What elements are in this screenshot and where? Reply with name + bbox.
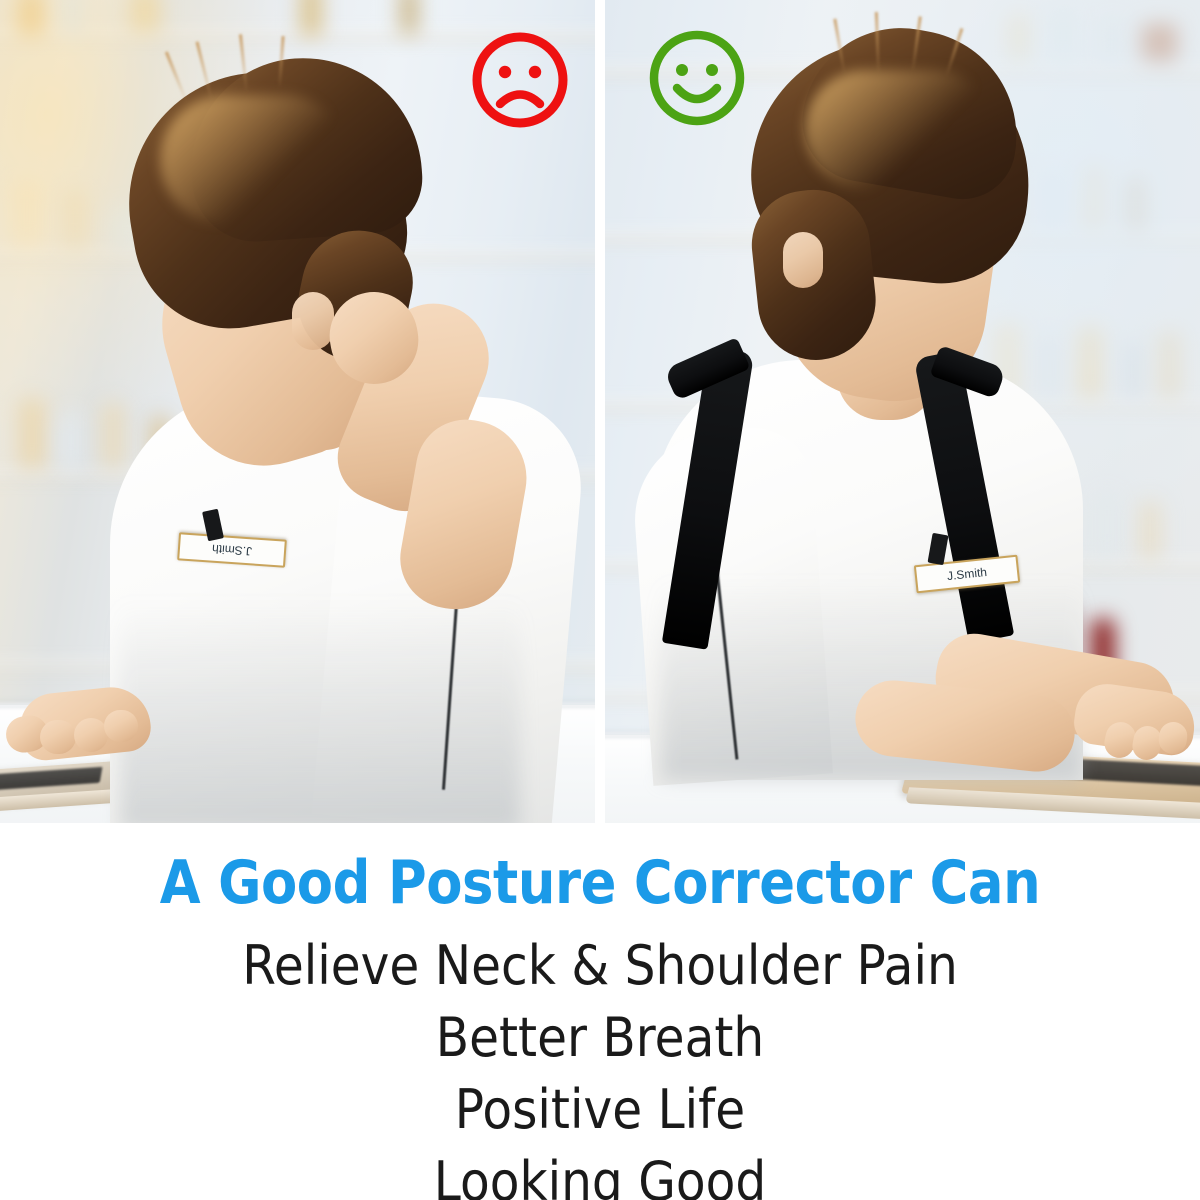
posture-corrector-product-poster: J.Smith bbox=[0, 0, 1200, 1200]
panel-divider bbox=[595, 0, 605, 823]
right-badge-text: J.Smith bbox=[946, 565, 987, 583]
happy-face-icon bbox=[645, 26, 749, 130]
benefit-line-3: Positive Life bbox=[60, 1065, 1140, 1137]
comparison-photo-band: J.Smith bbox=[0, 0, 1200, 823]
benefit-line-4: Looking Good bbox=[60, 1137, 1140, 1200]
benefit-line-2: Better Breath bbox=[60, 993, 1140, 1065]
left-badge-text: J.Smith bbox=[212, 542, 253, 559]
good-posture-panel: J.Smith bbox=[605, 0, 1200, 823]
benefit-line-1: Relieve Neck & Shoulder Pain bbox=[60, 913, 1140, 993]
headline: A Good Posture Corrector Can bbox=[72, 823, 1128, 913]
marketing-copy-block: A Good Posture Corrector Can Relieve Nec… bbox=[0, 823, 1200, 1200]
bad-posture-panel: J.Smith bbox=[0, 0, 595, 823]
sad-face-icon bbox=[468, 28, 572, 132]
